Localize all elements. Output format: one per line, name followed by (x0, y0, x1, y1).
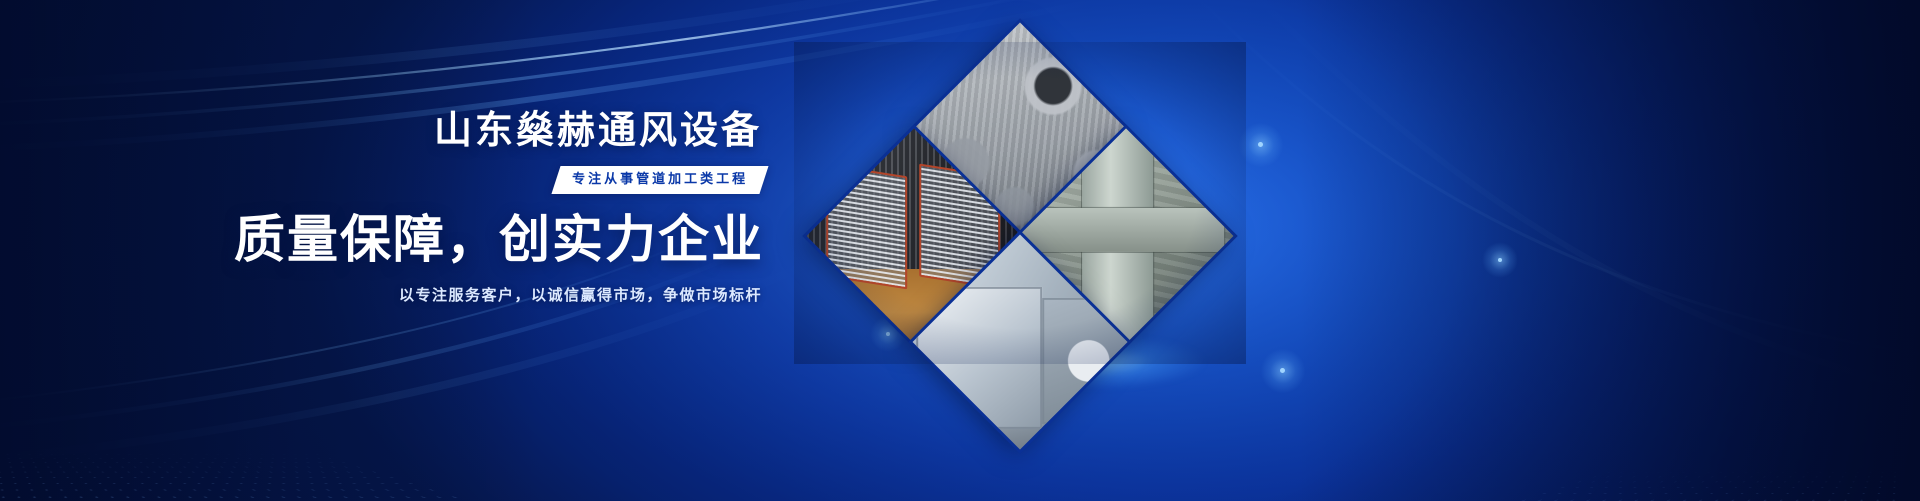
tagline: 以专注服务客户，以诚信赢得市场，争做市场标杆 (0, 285, 762, 306)
headline: 质量保障，创实力企业 (0, 212, 764, 268)
hero-banner: 山东燊赫通风设备 专注从事管道加工类工程 质量保障，创实力企业 以专注服务客户，… (0, 0, 1920, 501)
banner-text-block: 山东燊赫通风设备 专注从事管道加工类工程 质量保障，创实力企业 以专注服务客户，… (0, 112, 790, 306)
diamond-photo-collage (800, 48, 1240, 358)
specialty-badge-label: 专注从事管道加工类工程 (572, 170, 748, 189)
badge-row: 专注从事管道加工类工程 (0, 166, 764, 194)
brand-title: 山东燊赫通风设备 (0, 112, 762, 150)
specialty-badge: 专注从事管道加工类工程 (551, 166, 768, 194)
